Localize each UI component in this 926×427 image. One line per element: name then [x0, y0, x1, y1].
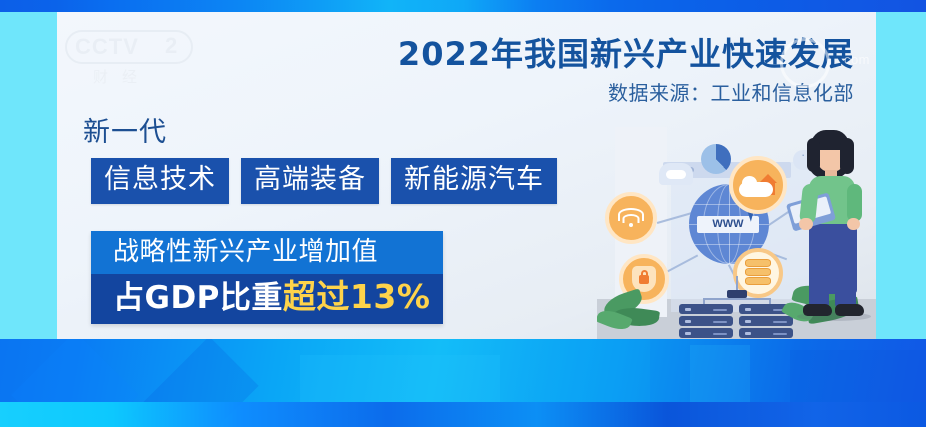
- person-hand: [799, 218, 813, 230]
- callout-value-prefix: 占GDP比重: [113, 280, 283, 316]
- callout-value-highlight: 超过13%: [283, 279, 431, 315]
- person-shoe: [835, 304, 864, 316]
- person-shoe: [803, 304, 832, 316]
- logo-subtitle: 财经: [93, 66, 151, 87]
- industry-tag-new-energy-vehicles[interactable]: 新能源汽车: [391, 158, 557, 204]
- person-with-laptop-illustration: [793, 128, 867, 320]
- person-hand: [847, 218, 860, 230]
- server-unit: [679, 316, 733, 326]
- server-unit: [679, 304, 733, 314]
- group-label: 新一代: [83, 110, 167, 149]
- left-cyan-rail: [0, 12, 57, 339]
- background-strip: [0, 402, 926, 427]
- industry-tag-information-technology[interactable]: 信息技术: [91, 158, 229, 204]
- callout-value-band: 占GDP比重 超过13%: [91, 274, 443, 324]
- rack-switch: [727, 290, 747, 298]
- broadcast-graphic: CCTV 2 财经 2022年我国新兴产业快速发展 数据来源：工业和信息化部 c…: [0, 0, 926, 427]
- person-hair: [807, 138, 820, 172]
- cctv-channel-logo: CCTV 2 财经: [65, 30, 197, 92]
- cloud-home-icon: [729, 156, 787, 214]
- person-hair: [840, 138, 854, 174]
- globe-parallel: [689, 244, 769, 245]
- rack-connector: [736, 276, 738, 290]
- logo-channel-number: 2: [165, 34, 177, 58]
- wifi-icon: [605, 192, 657, 244]
- industry-tag-row: 信息技术 高端装备 新能源汽车: [91, 158, 557, 204]
- cloud-chip-icon: [659, 163, 693, 185]
- rack-connector: [703, 298, 771, 300]
- person-arm: [847, 184, 862, 222]
- server-unit: [679, 328, 733, 338]
- server-unit: [739, 328, 793, 338]
- pie-chart-icon: [701, 144, 731, 174]
- callout-metric-label: 战略性新兴产业增加值: [91, 231, 443, 274]
- content-panel: CCTV 2 财经 2022年我国新兴产业快速发展 数据来源：工业和信息化部 c…: [57, 12, 876, 339]
- logo-text: CCTV: [75, 35, 139, 59]
- server-rack-group: [679, 290, 799, 338]
- technology-illustration: WWW: [597, 32, 876, 339]
- statistic-callout: 战略性新兴产业增加值 占GDP比重 超过13%: [91, 231, 443, 324]
- top-gradient-bar: [0, 0, 926, 12]
- server-unit: [739, 316, 793, 326]
- industry-tag-high-end-equipment[interactable]: 高端装备: [241, 158, 379, 204]
- right-cyan-rail: [876, 12, 926, 339]
